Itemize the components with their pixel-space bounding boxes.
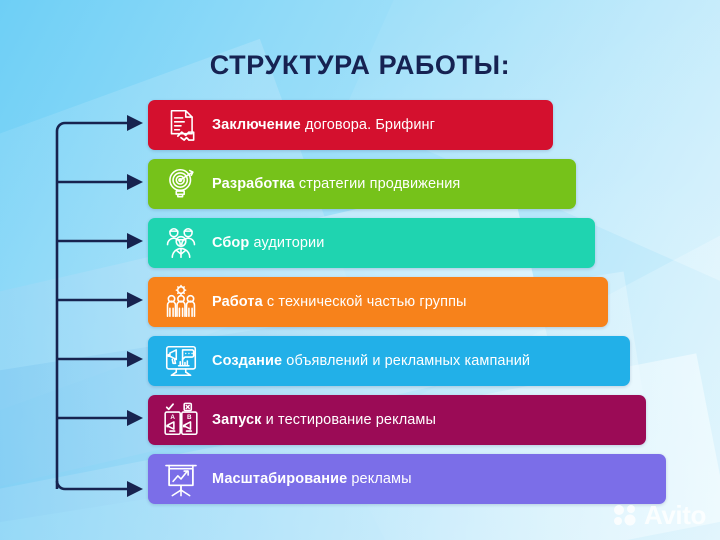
step-label-bold-5: Создание: [212, 353, 282, 369]
step-row-4[interactable]: Работа с технической частью группы: [148, 277, 608, 327]
steps-list: Заключение договора. Брифинг Разработка …: [148, 100, 666, 513]
arrowhead-7: [127, 481, 143, 497]
step-label-rest-6: и тестирование рекламы: [262, 412, 436, 428]
avito-dots-icon: [612, 504, 638, 526]
avito-watermark: Avito: [612, 502, 706, 528]
monitor-megaphone-icon: [158, 341, 204, 381]
arrowhead-6: [127, 410, 143, 426]
step-label-rest-4: с технической частью группы: [263, 294, 467, 310]
page-title: СТРУКТУРА РАБОТЫ:: [0, 50, 720, 81]
infographic-slide: СТРУКТУРА РАБОТЫ:: [0, 0, 720, 540]
step-label-bold-2: Разработка: [212, 176, 295, 192]
contract-handshake-icon: [158, 105, 204, 145]
step-row-2[interactable]: Разработка стратегии продвижения: [148, 159, 576, 209]
step-label-5: Создание объявлений и рекламных кампаний: [204, 352, 544, 370]
step-label-2: Разработка стратегии продвижения: [204, 175, 474, 193]
step-label-rest-7: рекламы: [347, 471, 411, 487]
strategy-bulb-target-icon: [158, 164, 204, 204]
step-label-bold-1: Заключение: [212, 117, 301, 133]
arrowhead-1: [127, 115, 143, 131]
step-label-bold-4: Работа: [212, 294, 263, 310]
step-label-rest-1: договора. Брифинг: [301, 117, 435, 133]
arrowhead-3: [127, 233, 143, 249]
step-row-3[interactable]: Сбор аудитории: [148, 218, 595, 268]
step-row-1[interactable]: Заключение договора. Брифинг: [148, 100, 553, 150]
team-gear-icon: [158, 282, 204, 322]
step-label-bold-3: Сбор: [212, 235, 249, 251]
svg-text:B: B: [187, 414, 192, 421]
step-label-rest-5: объявлений и рекламных кампаний: [282, 353, 530, 369]
step-row-6[interactable]: A B Запуск и тестирование рекламы: [148, 395, 646, 445]
arrowhead-2: [127, 174, 143, 190]
step-label-4: Работа с технической частью группы: [204, 293, 481, 311]
ab-test-icon: A B: [158, 400, 204, 440]
step-label-3: Сбор аудитории: [204, 234, 338, 252]
audience-group-icon: [158, 223, 204, 263]
step-label-1: Заключение договора. Брифинг: [204, 116, 449, 134]
step-label-bold-7: Масштабирование: [212, 471, 347, 487]
step-label-rest-3: аудитории: [249, 235, 324, 251]
connector-branch-1: [57, 123, 130, 131]
step-label-7: Масштабирование рекламы: [204, 470, 426, 488]
step-row-5[interactable]: Создание объявлений и рекламных кампаний: [148, 336, 630, 386]
avito-wordmark: Avito: [644, 502, 706, 528]
arrowhead-5: [127, 351, 143, 367]
svg-text:A: A: [170, 414, 175, 421]
step-row-7[interactable]: Масштабирование рекламы: [148, 454, 666, 504]
step-label-bold-6: Запуск: [212, 412, 262, 428]
step-label-rest-2: стратегии продвижения: [295, 176, 461, 192]
arrowhead-4: [127, 292, 143, 308]
connector-branch-7: [57, 481, 130, 489]
growth-chart-board-icon: [158, 459, 204, 499]
step-label-6: Запуск и тестирование рекламы: [204, 411, 450, 429]
